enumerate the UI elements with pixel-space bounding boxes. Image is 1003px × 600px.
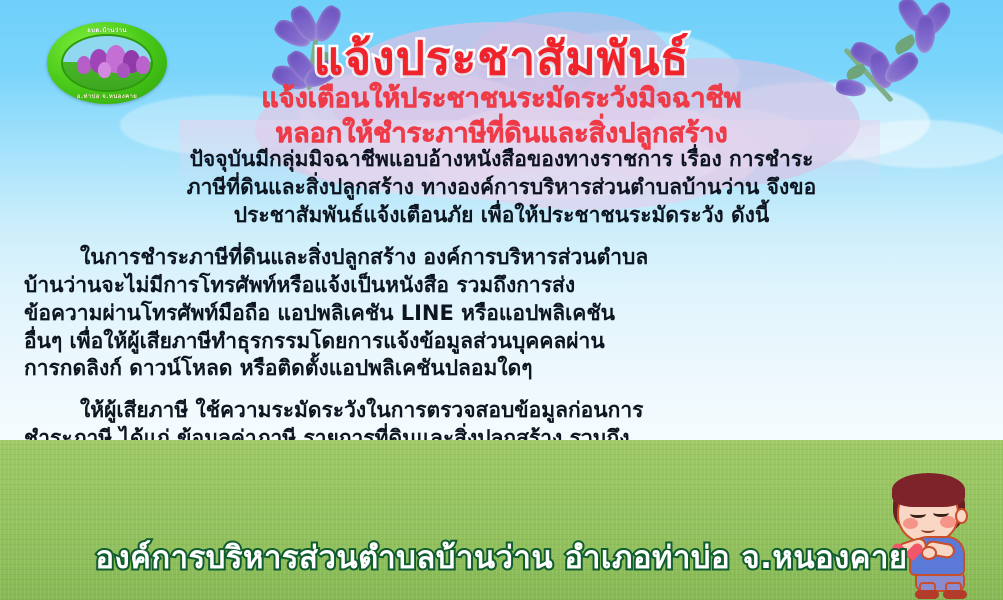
boy-cheek	[940, 516, 956, 528]
subtitle-line: แจ้งเตือนให้ประชาชนระมัดระวังมิจฉาชีพ	[0, 82, 1003, 117]
paragraph-text: ให้ผู้เสียภาษี ใช้ความระมัดระวังในการตรว…	[80, 398, 643, 422]
boy-ear	[955, 508, 968, 524]
boy-eye	[910, 510, 926, 518]
boy-cheek	[903, 518, 918, 529]
paragraph-line: ข้อความผ่านโทรศัพท์มือถือ แอปพลิเคชัน LI…	[24, 300, 979, 328]
public-relations-poster: อบต.บ้านว่าน อ.ท่าบ่อ จ.หนองคาย แจ้งประช…	[0, 0, 1003, 600]
organization-banner: องค์การบริหารส่วนตำบลบ้านว่าน อำเภอท่าบ่…	[0, 532, 1003, 582]
paragraph-line: การกดลิงก์ ดาวน์โหลด หรือติดตั้งแอปพลิเค…	[24, 355, 979, 383]
boy-shoe	[943, 590, 967, 599]
boy-shoe	[915, 590, 939, 599]
paragraph-line: บ้านว่านจะไม่มีการโทรศัพท์หรือแจ้งเป็นหน…	[24, 272, 979, 300]
paragraph-line: ให้ผู้เสียภาษี ใช้ความระมัดระวังในการตรว…	[24, 397, 979, 425]
paragraph-line: ภาษีที่ดินและสิ่งปลูกสร้าง ทางองค์การบริ…	[24, 174, 979, 202]
boy-hair-top	[892, 473, 965, 507]
paragraph-line: ประชาสัมพันธ์แจ้งเตือนภัย เพื่อให้ประชาช…	[24, 202, 979, 230]
paragraph-line: อื่นๆ เพื่อให้ผู้เสียภาษีทำธุรกรรมโดยการ…	[24, 328, 979, 356]
poster-subtitle: แจ้งเตือนให้ประชาชนระมัดระวังมิจฉาชีพ หล…	[0, 82, 1003, 151]
paragraph-line: ปัจจุบันมีกลุ่มมิจฉาชีพแอบอ้างหนังสือของ…	[24, 146, 979, 174]
paragraph-text: ในการชำระภาษีที่ดินและสิ่งปลูกสร้าง องค์…	[80, 245, 648, 269]
paragraph-line: ในการชำระภาษีที่ดินและสิ่งปลูกสร้าง องค์…	[24, 244, 979, 272]
paragraph-2: ในการชำระภาษีที่ดินและสิ่งปลูกสร้าง องค์…	[24, 244, 979, 384]
paragraph-1: ปัจจุบันมีกลุ่มมิจฉาชีพแอบอ้างหนังสือของ…	[24, 146, 979, 230]
boy-eye	[933, 509, 949, 517]
